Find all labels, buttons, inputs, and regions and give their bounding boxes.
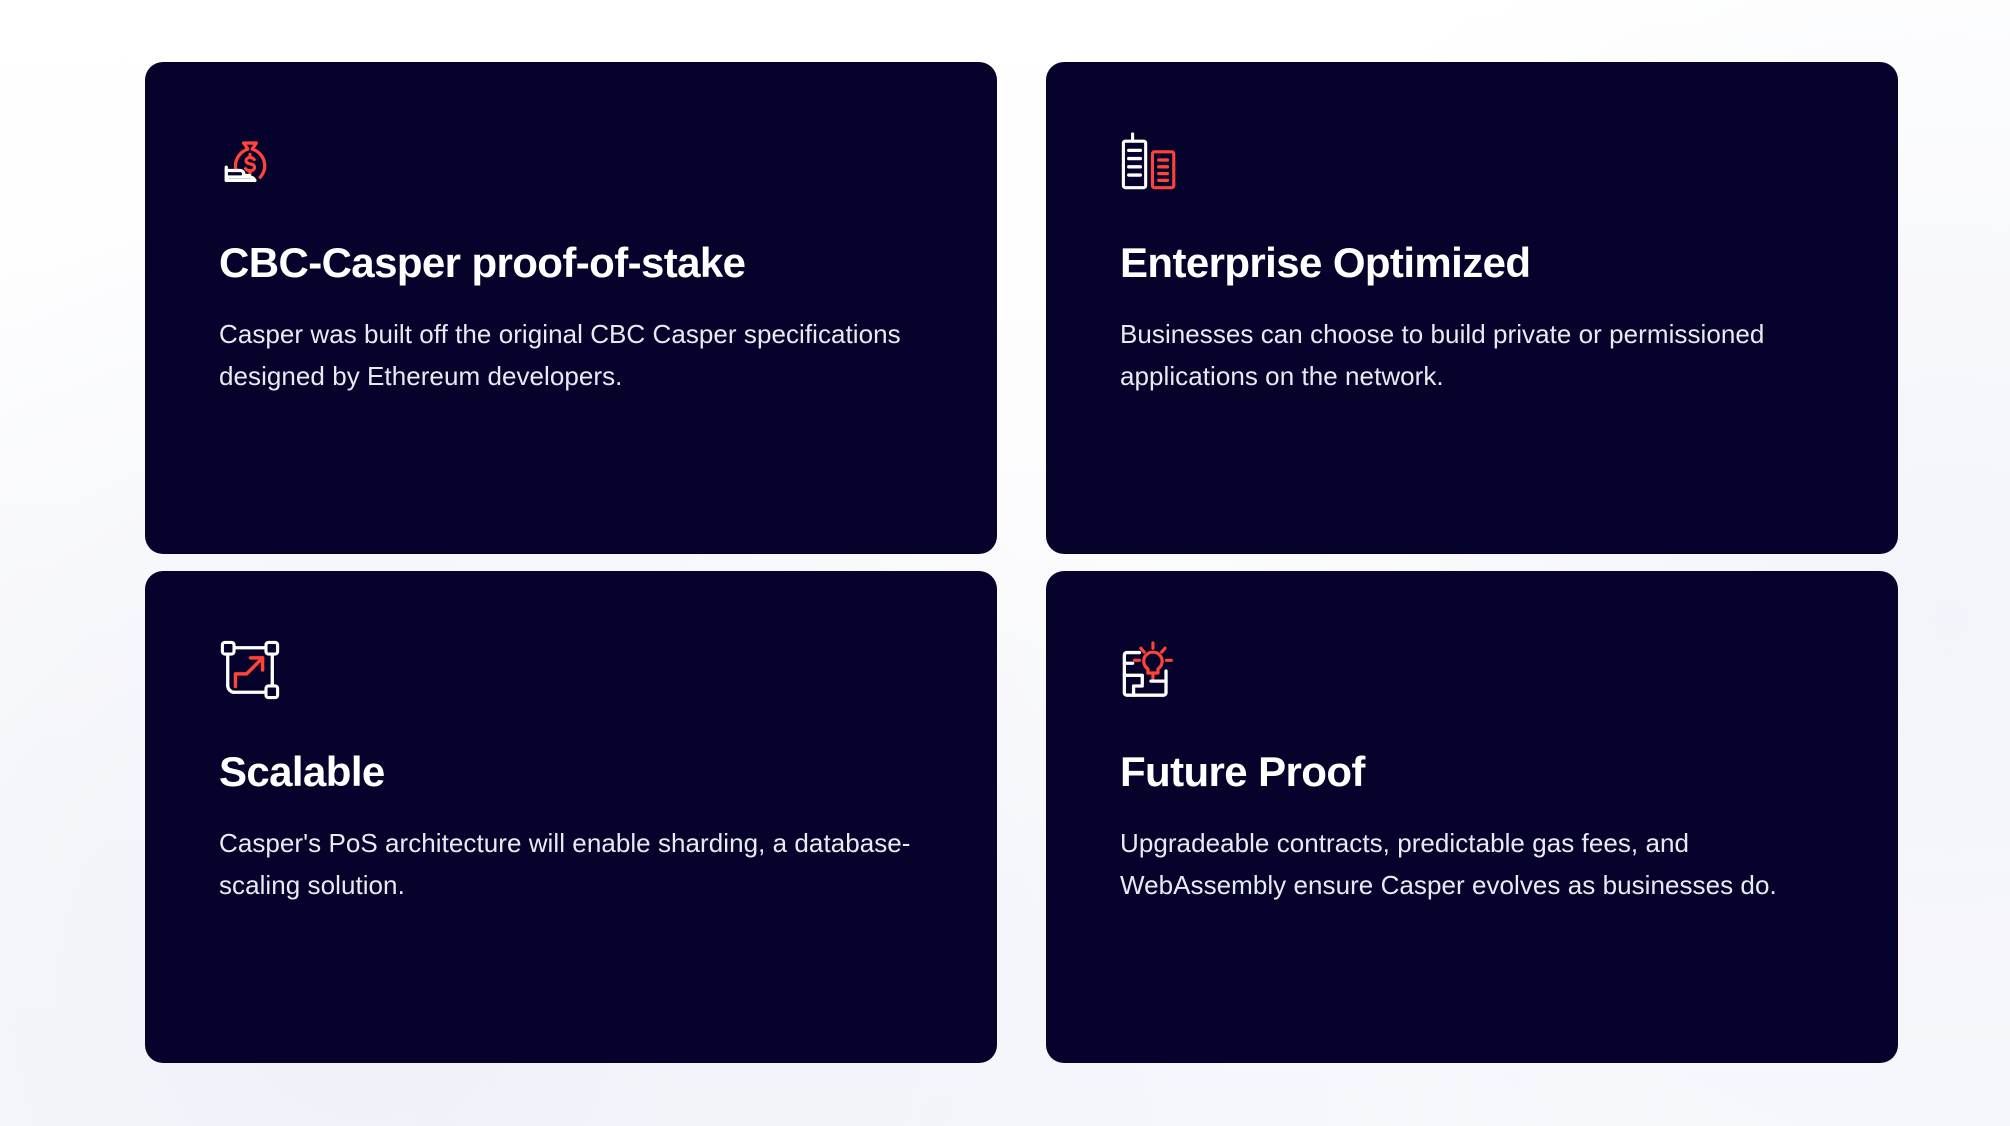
- card-title: Future Proof: [1120, 748, 1824, 795]
- card-description: Casper's PoS architecture will enable sh…: [219, 822, 919, 907]
- scale-arrow-bounding-box-icon: [219, 639, 281, 701]
- feature-card-future-proof[interactable]: Future Proof Upgradeable contracts, pred…: [1046, 571, 1898, 1063]
- lightbulb-circuit-icon: [1120, 639, 1182, 701]
- card-title: CBC-Casper proof-of-stake: [219, 239, 923, 286]
- office-buildings-icon: [1120, 130, 1182, 192]
- card-description: Upgradeable contracts, predictable gas f…: [1120, 822, 1820, 907]
- feature-card-enterprise-optimized[interactable]: Enterprise Optimized Businesses can choo…: [1046, 62, 1898, 554]
- feature-card-cbc-casper[interactable]: CBC-Casper proof-of-stake Casper was bui…: [145, 62, 997, 554]
- feature-card-grid: CBC-Casper proof-of-stake Casper was bui…: [145, 62, 1898, 1063]
- card-description: Businesses can choose to build private o…: [1120, 313, 1820, 398]
- money-bag-in-hand-icon: [219, 130, 281, 192]
- card-title: Scalable: [219, 748, 923, 795]
- card-title: Enterprise Optimized: [1120, 239, 1824, 286]
- card-description: Casper was built off the original CBC Ca…: [219, 313, 919, 398]
- feature-card-scalable[interactable]: Scalable Casper's PoS architecture will …: [145, 571, 997, 1063]
